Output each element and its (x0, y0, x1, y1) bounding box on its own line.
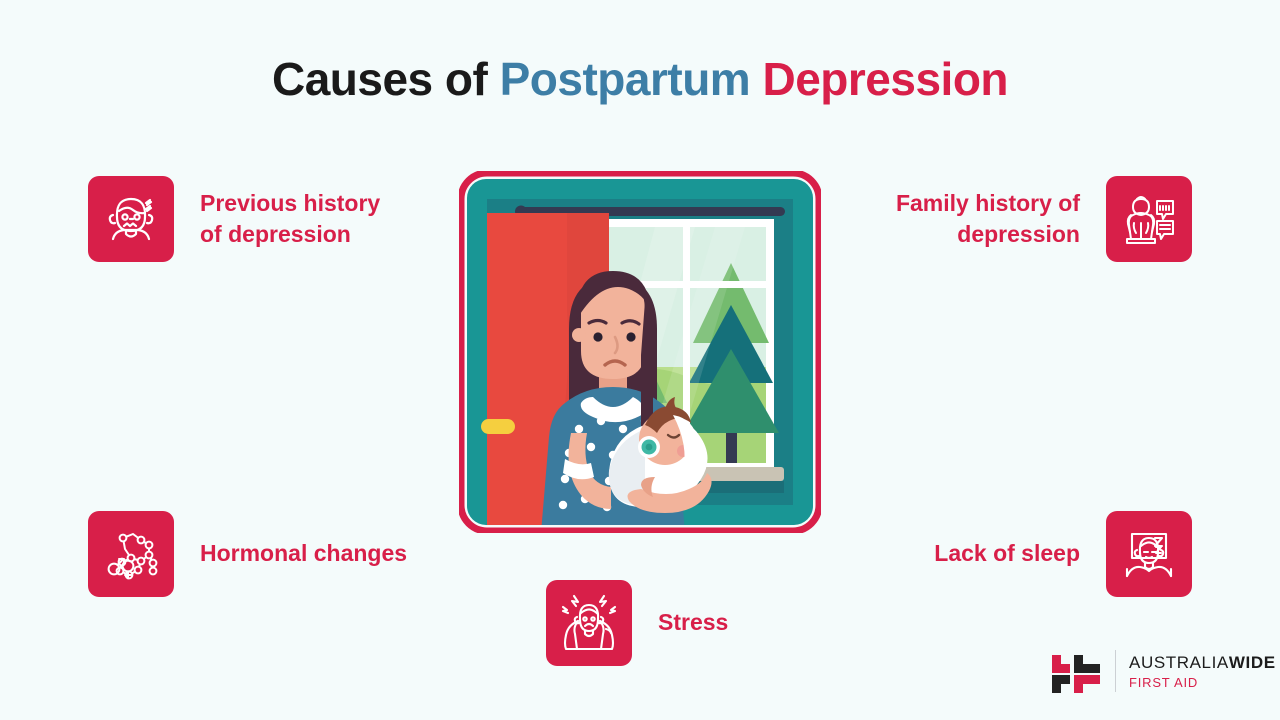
title-part-depression: Depression (762, 53, 1008, 105)
sad-woman-face-icon (88, 176, 174, 262)
feature-label-family-history: Family history of depression (896, 188, 1080, 251)
sleeping-person-icon (1106, 511, 1192, 597)
feature-family-history[interactable]: Family history of depression (896, 176, 1192, 262)
feature-previous-history[interactable]: Previous history of depression (88, 176, 380, 262)
title-part-causes-of: Causes of (272, 53, 500, 105)
page-title: Causes of Postpartum Depression (0, 52, 1280, 106)
family-speech-bubble-icon (1106, 176, 1192, 262)
stressed-head-icon (546, 580, 632, 666)
feature-hormonal-changes[interactable]: Hormonal changes (88, 511, 407, 597)
feature-stress[interactable]: Stress (546, 580, 728, 666)
logo-text-first-aid: FIRST AID (1129, 676, 1276, 689)
australia-wide-first-aid-logo[interactable]: AUSTRALIAWIDE FIRST AID (1050, 645, 1276, 697)
feature-label-lack-of-sleep: Lack of sleep (934, 538, 1080, 569)
logo-cross-mark (1050, 645, 1102, 697)
logo-text-australia: AUSTRALIA (1129, 653, 1229, 672)
logo-text-wide: WIDE (1229, 653, 1276, 672)
logo-line-1: AUSTRALIAWIDE (1129, 654, 1276, 671)
feature-label-hormonal-changes: Hormonal changes (200, 538, 407, 569)
molecule-gender-icon (88, 511, 174, 597)
feature-lack-of-sleep[interactable]: Lack of sleep (934, 511, 1192, 597)
feature-label-stress: Stress (658, 607, 728, 638)
logo-divider (1115, 650, 1116, 692)
mother-holding-baby-illustration (459, 171, 821, 533)
title-part-postpartum: Postpartum (500, 53, 763, 105)
feature-label-previous-history: Previous history of depression (200, 188, 380, 251)
